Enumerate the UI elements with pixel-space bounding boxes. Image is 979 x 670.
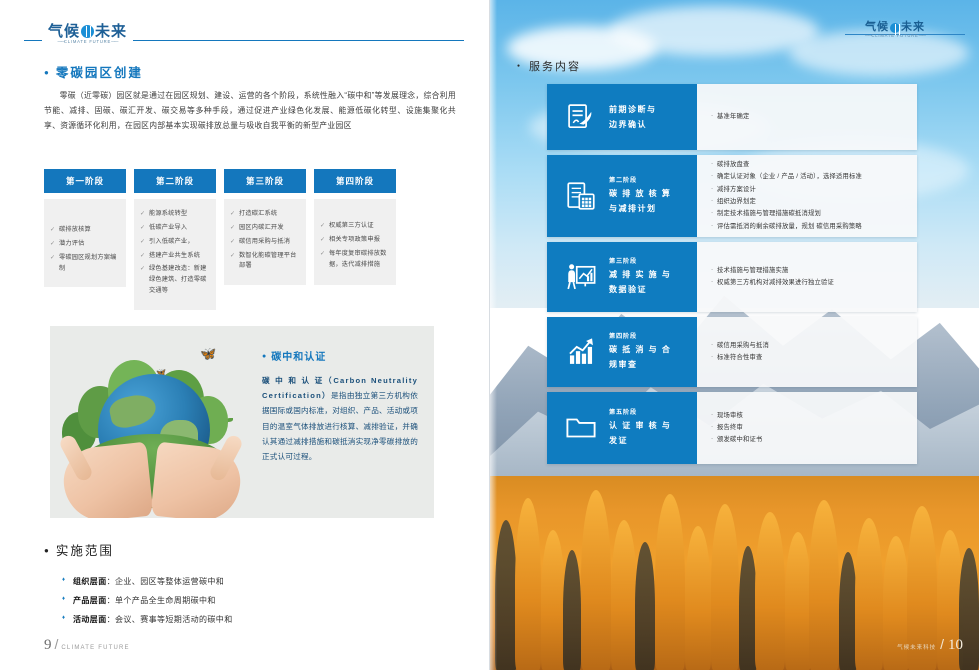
service-line: 组织边界划定 <box>711 196 909 208</box>
scope-block: 实施范围 组织层面：企业、园区等整体运营碳中和 产品层面：单个产品全生命周期碳中… <box>44 540 233 629</box>
service-card-5-content: 现场审核 报告终审 颁发碳中和证书 <box>697 392 917 464</box>
tree-shape <box>495 520 517 670</box>
certification-title: 碳中和认证 <box>262 348 418 363</box>
scope-title: 实施范围 <box>44 540 233 559</box>
service-line: 现场审核 <box>711 410 909 422</box>
butterfly-icon: 🦋 <box>200 346 216 362</box>
service-card-5-stage: 第五阶段 <box>609 407 671 418</box>
logo-wordmark: 气候 未来 <box>48 24 127 39</box>
service-line: 碳排放盘查 <box>711 159 909 171</box>
service-line: 确定认证对象（企业 / 产品 / 活动），选择适用标准 <box>711 171 909 183</box>
service-card-3-title-line2: 数据验证 <box>609 285 647 294</box>
tree-shape <box>785 532 811 670</box>
stage-item: 碳排放核算 <box>50 225 120 236</box>
scope-label: 产品层面 <box>73 596 107 605</box>
service-card-1-header: 前期诊断与 边界确认 <box>547 84 697 150</box>
scope-value: ：企业、园区等整体运营碳中和 <box>107 577 225 586</box>
brand-logo: 气候 未来 CLIMATE FUTURE <box>42 24 133 44</box>
service-card-2-content: 碳排放盘查 确定认证对象（企业 / 产品 / 活动），选择适用标准 减排方案设计… <box>697 155 917 237</box>
service-line: 标准符合性审查 <box>711 352 909 364</box>
service-card-4[interactable]: 第四阶段 碳 抵 消 与 合 规审查 碳信用采购与抵消 标准符合性审查 <box>547 317 917 387</box>
scope-label: 组织层面 <box>73 577 107 586</box>
service-card-3[interactable]: 第三阶段 减 排 实 施 与 数据验证 技术措施与管理措施实施 权威第三方机构对… <box>547 242 917 312</box>
stage-item: 打造碳汇系统 <box>230 209 300 220</box>
service-line: 碳信用采购与抵消 <box>711 340 909 352</box>
stage-column-2: 第二阶段 能源系统转型 低碳产业导入 引入低碳产业， 搭建产业共生系统 绿色基建… <box>134 169 216 310</box>
service-card-5-title: 第五阶段 认 证 审 核 与 发证 <box>609 407 671 449</box>
service-card-3-content: 技术措施与管理措施实施 权威第三方机构对减排效果进行独立验证 <box>697 242 917 312</box>
scope-row: 组织层面：企业、园区等整体运营碳中和 <box>62 573 233 592</box>
service-card-5-header: 第五阶段 认 证 审 核 与 发证 <box>547 392 697 464</box>
stage-header-1: 第一阶段 <box>44 169 126 193</box>
service-card-2[interactable]: 第二阶段 碳 排 放 核 算 与减排计划 碳排放盘查 确定认证对象（企业 / 产… <box>547 155 917 237</box>
stage-item: 潜力评估 <box>50 239 120 250</box>
service-card-2-header: 第二阶段 碳 排 放 核 算 与减排计划 <box>547 155 697 237</box>
stage-body-2: 能源系统转型 低碳产业导入 引入低碳产业， 搭建产业共生系统 绿色基建改造：新建… <box>134 199 216 310</box>
stage-header-4: 第四阶段 <box>314 169 396 193</box>
logo-text-left: 气候 <box>865 22 889 33</box>
logo-text-right: 未来 <box>95 24 127 39</box>
footer-brand: CLIMATE FUTURE <box>61 645 129 651</box>
certification-body: 碳 中 和 认 证（Carbon Neutrality Certificatio… <box>262 373 418 464</box>
document-pen-icon <box>561 97 601 137</box>
service-card-2-title: 第二阶段 碳 排 放 核 算 与减排计划 <box>609 175 671 217</box>
tree-shape <box>855 518 883 670</box>
stage-body-1: 碳排放核算 潜力评估 零碳园区规划方案编制 <box>44 199 126 287</box>
service-card-2-title-line1: 碳 排 放 核 算 <box>609 189 671 198</box>
stage-item: 数智化能碳管理平台部署 <box>230 251 300 273</box>
service-card-3-stage: 第三阶段 <box>609 256 671 267</box>
service-card-1-title-line2: 边界确认 <box>609 120 647 129</box>
page-number: 10 <box>948 637 963 654</box>
tree-shape <box>635 542 655 670</box>
service-card-4-stage: 第四阶段 <box>609 331 671 342</box>
logo-text-left: 气候 <box>48 24 80 39</box>
globe-icon <box>81 25 94 38</box>
stage-columns: 第一阶段 碳排放核算 潜力评估 零碳园区规划方案编制 第二阶段 能源系统转型 低… <box>44 169 396 310</box>
tree-shape <box>711 504 739 670</box>
service-cards-list: 前期诊断与 边界确认 基准年确定 <box>547 84 917 469</box>
tree-shape <box>541 530 565 670</box>
left-page: 气候 未来 CLIMATE FUTURE 零碳园区创建 零碳（近零碳）园区就是通… <box>0 0 489 670</box>
stage-column-4: 第四阶段 权威第三方认证 相关专项政策申报 每年度复审碳排放数据，迭代减排措施 <box>314 169 396 310</box>
service-card-4-content: 碳信用采购与抵消 标准符合性审查 <box>697 317 917 387</box>
page-number: 9 <box>44 637 52 654</box>
service-card-4-title-line1: 碳 抵 消 与 合 <box>609 345 671 354</box>
stage-header-3: 第三阶段 <box>224 169 306 193</box>
service-line: 基准年确定 <box>711 111 909 123</box>
footer-slash: / <box>940 636 944 652</box>
logo-subtitle: CLIMATE FUTURE <box>58 40 118 44</box>
stage-body-3: 打造碳汇系统 园区内碳汇开发 碳信用采购与抵消 数智化能碳管理平台部署 <box>224 199 306 285</box>
right-page-header: 气候 未来 CLIMATE FUTURE <box>845 22 965 44</box>
service-line: 技术措施与管理措施实施 <box>711 265 909 277</box>
service-line: 制定技术措施与管理措施碳抵消规划 <box>711 208 909 220</box>
stage-header-2: 第二阶段 <box>134 169 216 193</box>
stage-item: 能源系统转型 <box>140 209 210 220</box>
service-card-2-stage: 第二阶段 <box>609 175 671 186</box>
certification-panel: 🦋 🦋 碳中和认证 碳 中 和 认 证（Carbon Neutral <box>50 326 434 518</box>
left-page-header: 气候 未来 CLIMATE FUTURE <box>24 24 464 54</box>
stage-item: 搭建产业共生系统 <box>140 251 210 262</box>
tree-shape <box>581 490 611 670</box>
tree-shape <box>685 526 711 670</box>
service-card-3-title-line1: 减 排 实 施 与 <box>609 270 671 279</box>
scope-label: 活动层面 <box>73 615 107 624</box>
service-card-1-title-line1: 前期诊断与 <box>609 105 657 114</box>
scope-value: ：单个产品全生命周期碳中和 <box>107 596 216 605</box>
service-card-4-title-line2: 规审查 <box>609 360 638 369</box>
scope-row: 活动层面：会议、赛事等短期活动的碳中和 <box>62 611 233 630</box>
service-card-1-title: 前期诊断与 边界确认 <box>609 102 657 133</box>
stage-item: 绿色基建改造：新建绿色建筑、打造零碳交通等 <box>140 264 210 297</box>
page-title: 零碳园区创建 <box>44 62 143 81</box>
service-line: 权威第三方机构对减排效果进行独立验证 <box>711 277 909 289</box>
tree-shape <box>755 512 785 670</box>
service-card-4-title: 第四阶段 碳 抵 消 与 合 规审查 <box>609 331 671 373</box>
stage-item: 碳信用采购与抵消 <box>230 237 300 248</box>
presentation-chart-person-icon <box>561 257 601 297</box>
ledger-calculator-icon <box>561 176 601 216</box>
service-card-3-header: 第三阶段 减 排 实 施 与 数据验证 <box>547 242 697 312</box>
logo-wordmark: 气候 未来 <box>865 22 925 33</box>
cloud-shape <box>609 6 819 56</box>
service-line: 评估需抵消的剩余碳排放量，规划 碳信用采购策略 <box>711 221 909 233</box>
right-page: 气候 未来 CLIMATE FUTURE 服务内容 <box>489 0 979 670</box>
tree-shape <box>655 494 685 670</box>
service-card-4-header: 第四阶段 碳 抵 消 与 合 规审查 <box>547 317 697 387</box>
scope-row: 产品层面：单个产品全生命周期碳中和 <box>62 592 233 611</box>
service-line: 报告终审 <box>711 422 909 434</box>
stage-item: 园区内碳汇开发 <box>230 223 300 234</box>
left-page-footer: 9 / CLIMATE FUTURE <box>44 636 130 654</box>
tree-shape <box>611 520 637 670</box>
footer-slash: / <box>55 636 59 652</box>
page-edge-scrim <box>489 0 497 670</box>
stage-column-1: 第一阶段 碳排放核算 潜力评估 零碳园区规划方案编制 <box>44 169 126 310</box>
hands-earth-illustration: 🦋 🦋 <box>50 326 256 518</box>
service-card-5-title-line2: 发证 <box>609 436 628 445</box>
tree-shape <box>809 500 839 670</box>
logo-text-right: 未来 <box>901 22 925 33</box>
service-card-5-title-line1: 认 证 审 核 与 <box>609 421 671 430</box>
brand-logo: 气候 未来 CLIMATE FUTURE <box>859 22 931 38</box>
logo-subtitle: CLIMATE FUTURE <box>865 34 925 38</box>
scope-value: ：会议、赛事等短期活动的碳中和 <box>107 615 233 624</box>
tree-shape <box>563 550 581 670</box>
stage-body-4: 权威第三方认证 相关专项政策申报 每年度复审碳排放数据，迭代减排措施 <box>314 199 396 285</box>
certification-body-text: 是指由独立第三方机构依据国际或国内标准，对组织、产品、活动或项目的温室气体排放进… <box>262 391 418 461</box>
stage-item: 相关专项政策申报 <box>320 235 390 246</box>
service-card-1[interactable]: 前期诊断与 边界确认 基准年确定 <box>547 84 917 150</box>
brochure-spread: 气候 未来 CLIMATE FUTURE 零碳园区创建 零碳（近零碳）园区就是通… <box>0 0 979 670</box>
growth-bar-chart-icon <box>561 332 601 372</box>
stage-item: 低碳产业导入 <box>140 223 210 234</box>
globe-icon <box>890 23 900 33</box>
stage-item: 每年度复审碳排放数据，迭代减排措施 <box>320 249 390 271</box>
certification-text-block: 碳中和认证 碳 中 和 认 证（Carbon Neutrality Certif… <box>256 326 434 518</box>
page-gutter <box>489 0 490 670</box>
service-card-3-title: 第三阶段 减 排 实 施 与 数据验证 <box>609 256 671 298</box>
service-section-title: 服务内容 <box>517 58 581 74</box>
service-line: 减排方案设计 <box>711 184 909 196</box>
stage-item: 权威第三方认证 <box>320 221 390 232</box>
tree-shape <box>515 498 541 670</box>
service-card-5[interactable]: 第五阶段 认 证 审 核 与 发证 现场审核 报告终审 颁发碳中和证书 <box>547 392 917 464</box>
service-line: 颁发碳中和证书 <box>711 434 909 446</box>
service-card-1-content: 基准年确定 <box>697 84 917 150</box>
folder-icon <box>561 408 601 448</box>
right-page-footer: 气候未来科技 / 10 <box>897 636 963 654</box>
stage-item: 引入低碳产业， <box>140 237 210 248</box>
stage-column-3: 第三阶段 打造碳汇系统 园区内碳汇开发 碳信用采购与抵消 数智化能碳管理平台部署 <box>224 169 306 310</box>
footer-brand: 气候未来科技 <box>897 643 936 651</box>
intro-paragraph: 零碳（近零碳）园区就是通过在园区规划、建设、运营的各个阶段，系统性融入“碳中和”… <box>44 88 456 134</box>
stage-item: 零碳园区规划方案编制 <box>50 253 120 275</box>
service-card-2-title-line2: 与减排计划 <box>609 204 657 213</box>
